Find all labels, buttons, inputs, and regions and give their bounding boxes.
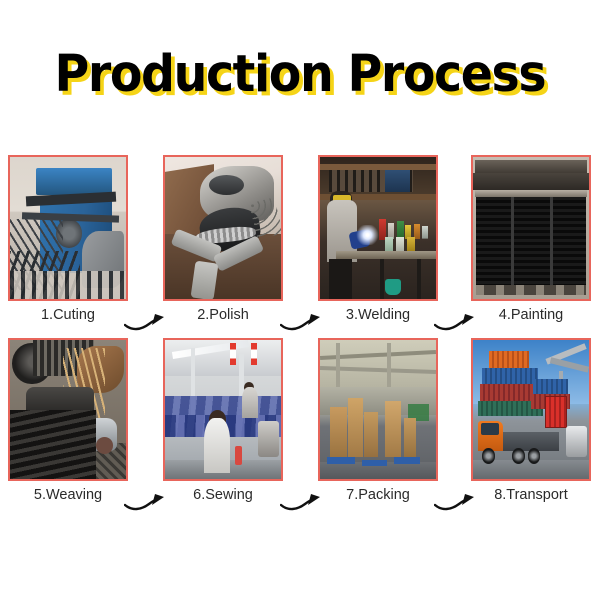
photo-art-band-saw-cutting-machine: [10, 157, 126, 299]
process-step-polish[interactable]: 2.Polish: [163, 155, 283, 335]
photo-weaving: [8, 338, 128, 481]
process-step-transport[interactable]: 8.Transport: [471, 338, 591, 518]
photo-art-polishing-grinder-metal-part: [165, 157, 281, 299]
photo-sewing: [163, 338, 283, 481]
step-label-sewing: 6.Sewing: [149, 487, 297, 503]
process-step-welding[interactable]: 3.Welding: [318, 155, 438, 335]
step-label-transport: 8.Transport: [457, 487, 600, 503]
photo-art-worker-welding-at-bench: [320, 157, 436, 299]
step-label-weaving: 5.Weaving: [0, 487, 142, 503]
step-label-packing: 7.Packing: [304, 487, 452, 503]
photo-transport: [471, 338, 591, 481]
title-block: Production Process: [0, 46, 600, 104]
step-label-cuting: 1.Cuting: [0, 307, 142, 323]
photo-art-black-painted-louvered-panel: [473, 157, 589, 299]
process-row-2: 5.Weaving 6.Sewing: [0, 338, 600, 518]
step-label-polish: 2.Polish: [149, 307, 297, 323]
process-step-painting[interactable]: 4.Painting: [471, 155, 591, 335]
photo-welding: [318, 155, 438, 301]
step-label-painting: 4.Painting: [457, 307, 600, 323]
photo-art-sewing-factory-floor-workers: [165, 340, 281, 479]
photo-art-warehouse-cardboard-boxes: [320, 340, 436, 479]
process-step-sewing[interactable]: 6.Sewing: [163, 338, 283, 518]
process-step-packing[interactable]: 7.Packing: [318, 338, 438, 518]
photo-packing: [318, 338, 438, 481]
page-title: Production Process: [55, 46, 546, 104]
process-step-cuting[interactable]: 1.Cuting: [8, 155, 128, 335]
photo-art-worker-weaving-dark-frames: [10, 340, 126, 479]
photo-art-shipping-containers-truck-crane: [473, 340, 589, 479]
photo-painting: [471, 155, 591, 301]
step-label-welding: 3.Welding: [304, 307, 452, 323]
process-row-1: 1.Cuting 2.Polish: [0, 155, 600, 335]
process-step-weaving[interactable]: 5.Weaving: [8, 338, 128, 518]
photo-polish: [163, 155, 283, 301]
photo-cuting: [8, 155, 128, 301]
